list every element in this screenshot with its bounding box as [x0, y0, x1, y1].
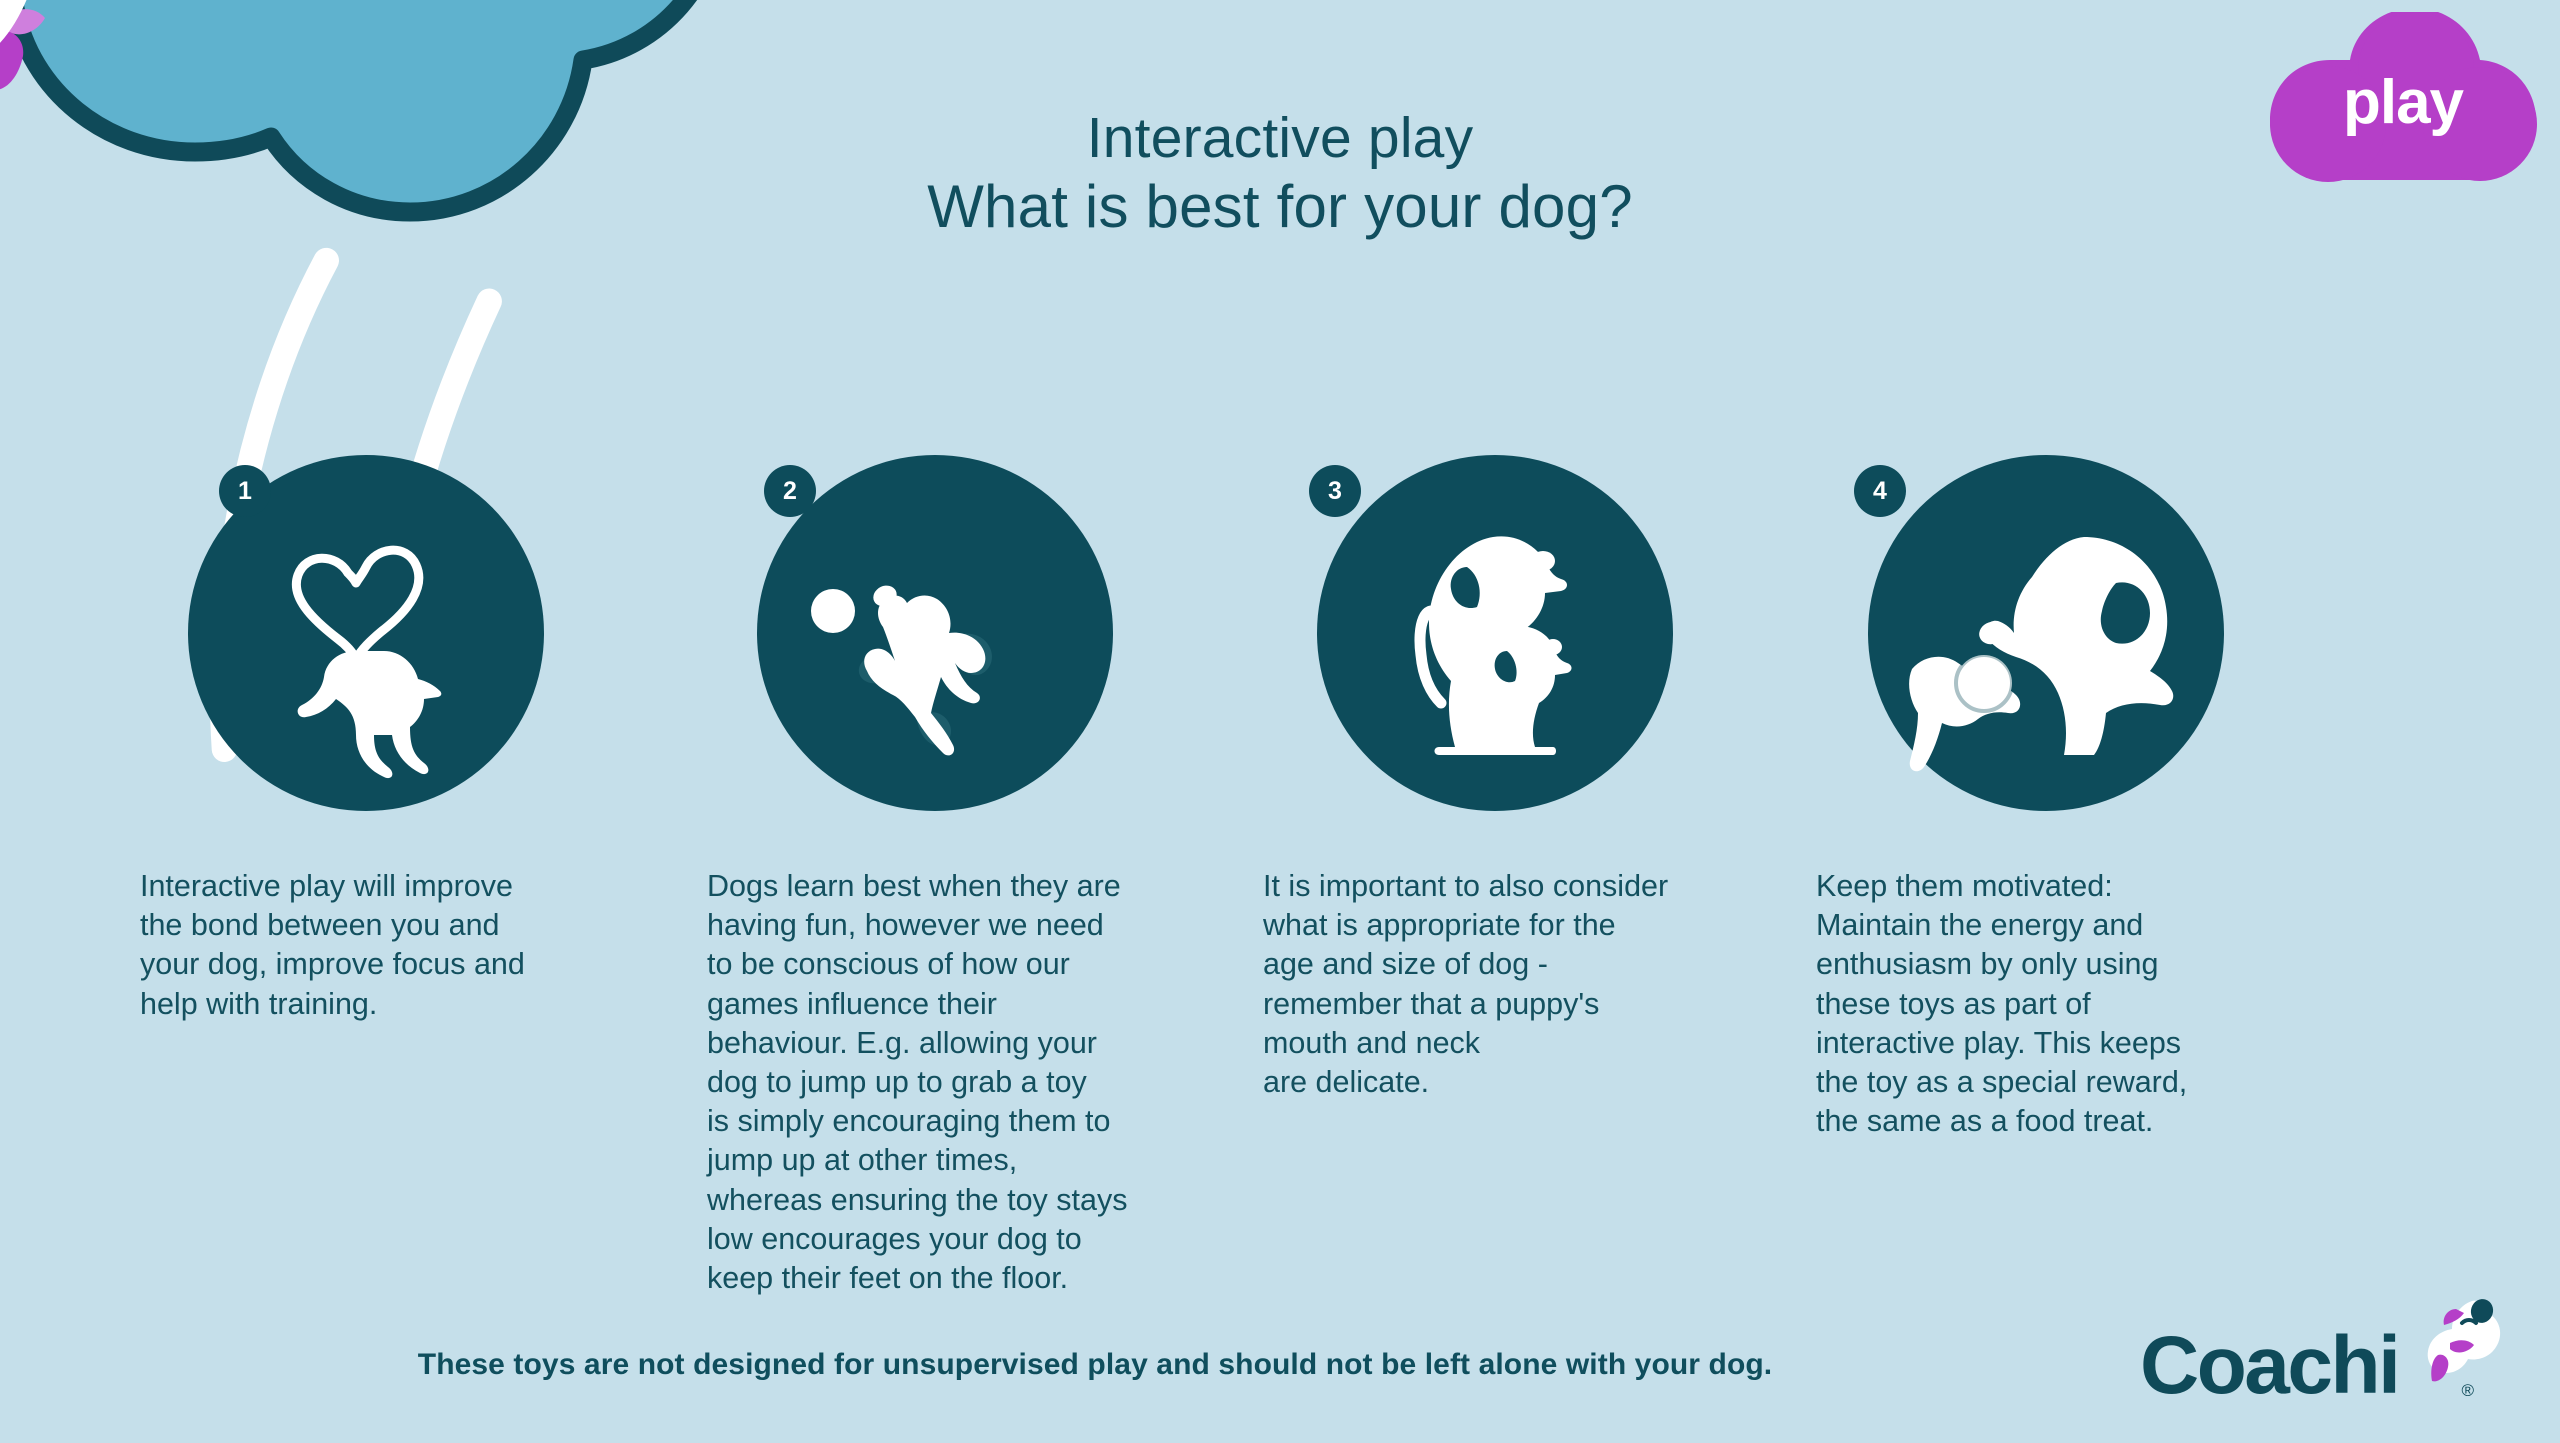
tip-text-4: Keep them motivated: Maintain the energy… — [1816, 867, 2316, 1141]
footer-warning: These toys are not designed for unsuperv… — [0, 1348, 2190, 1382]
hero-dog-illustration — [0, 0, 255, 108]
page-title: Interactive play What is best for your d… — [0, 105, 2560, 242]
title-line-1: Interactive play — [1087, 106, 1474, 170]
dog-head-with-treat-hand-icon — [1868, 455, 2224, 811]
brand-name: Coachi — [2140, 1319, 2398, 1413]
ball-shape — [811, 589, 855, 633]
step-badge-3: 3 — [1309, 465, 1361, 517]
tip-column-4: 4 Keep them motivated: Maintain the ener… — [1850, 455, 2395, 1298]
step-badge-2: 2 — [764, 465, 816, 517]
tip-icon-circle-3 — [1317, 455, 1673, 811]
tip-column-2: 2 Dogs learn best when they are having f… — [760, 455, 1305, 1298]
title-line-2: What is best for your dog? — [0, 172, 2560, 242]
tip-text-3: It is important to also consider what is… — [1263, 867, 1763, 1102]
step-badge-1: 1 — [219, 465, 271, 517]
tips-grid: 1 Interactive play will improve the bond… — [215, 455, 2405, 1298]
tip-icon-circle-4 — [1868, 455, 2224, 811]
infographic-canvas: play Interactive play What is best for y… — [0, 0, 2560, 1443]
tip-text-1: Interactive play will improve the bond b… — [140, 867, 640, 1024]
adult-dog-and-puppy-icon — [1317, 455, 1673, 811]
leaping-dog-with-toy-icon — [0, 0, 255, 108]
step-badge-4: 4 — [1854, 465, 1906, 517]
tip-column-1: 1 Interactive play will improve the bond… — [215, 455, 760, 1298]
leaping-dog-mascot-icon — [2394, 1289, 2514, 1384]
registered-mark: ® — [2461, 1381, 2474, 1401]
tip-column-3: 3 It is important to also consider what … — [1305, 455, 1850, 1298]
coachi-logo: Coachi ® — [2140, 1295, 2510, 1415]
dog-leaping-for-ball-icon — [757, 455, 1113, 811]
tip-text-2: Dogs learn best when they are having fun… — [707, 867, 1207, 1298]
tip-icon-circle-2 — [757, 455, 1113, 811]
